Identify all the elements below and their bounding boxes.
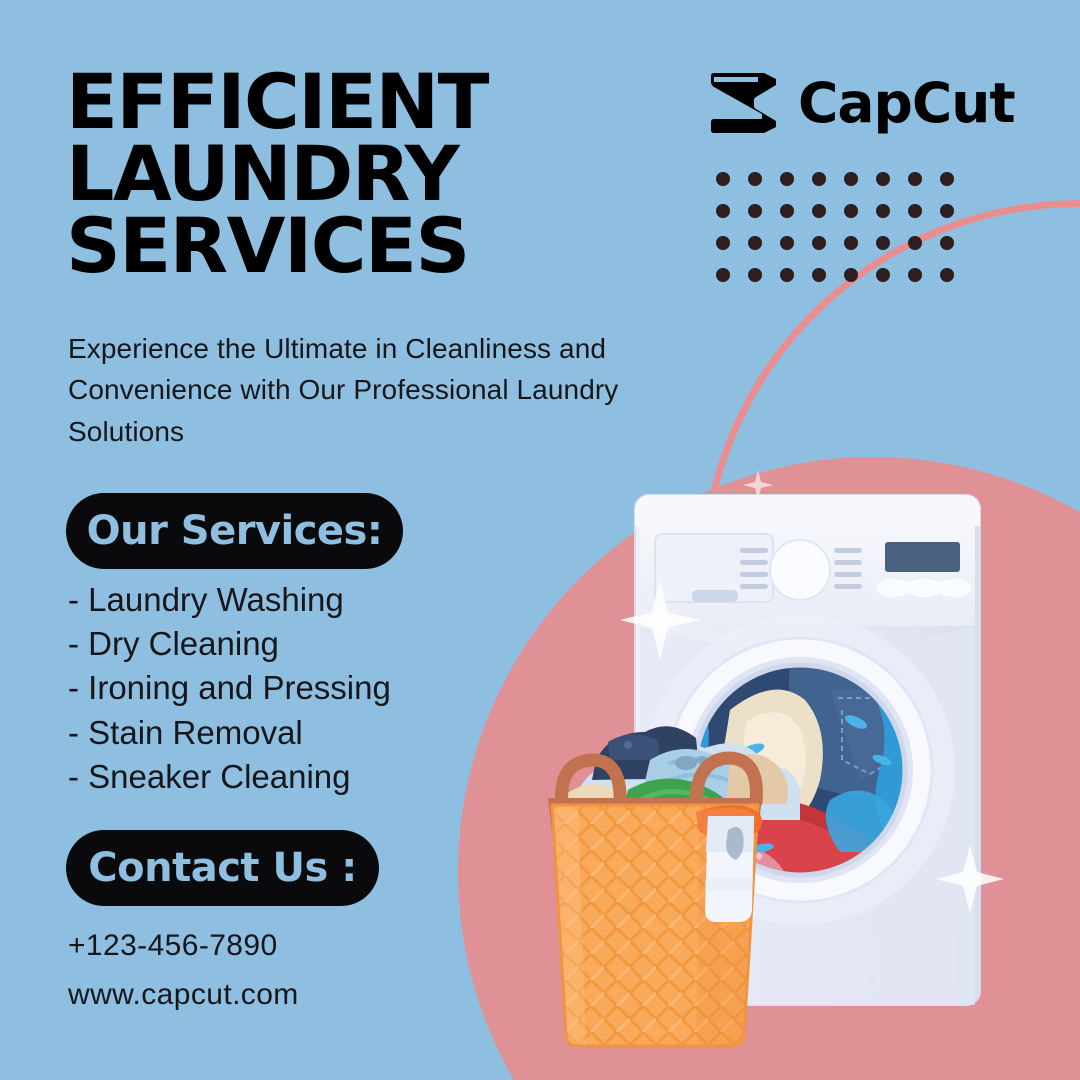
page-title: EFFICIENT LAUNDRY SERVICES [66, 66, 626, 283]
list-item: - Dry Cleaning [68, 622, 391, 666]
capcut-bowtie-icon [706, 72, 780, 134]
our-services-label: Our Services: [87, 508, 383, 554]
our-services-badge: Our Services: [66, 493, 403, 569]
list-item: - Stain Removal [68, 711, 391, 755]
contact-details: +123-456-7890 www.capcut.com [68, 922, 299, 1019]
list-item: - Laundry Washing [68, 578, 391, 622]
headline-line-1: EFFICIENT [66, 66, 626, 138]
headline-line-2: LAUNDRY [66, 138, 626, 210]
phone-number[interactable]: +123-456-7890 [68, 922, 299, 971]
laundry-illustration [500, 460, 1060, 1060]
contact-us-label: Contact Us : [88, 845, 356, 891]
poster-canvas: EFFICIENT LAUNDRY SERVICES Experience th… [0, 0, 1080, 1080]
list-item: - Ironing and Pressing [68, 666, 391, 710]
services-list: - Laundry Washing - Dry Cleaning - Ironi… [68, 578, 391, 799]
subtitle-text: Experience the Ultimate in Cleanliness a… [68, 328, 728, 452]
website-url[interactable]: www.capcut.com [68, 971, 299, 1020]
headline-line-3: SERVICES [66, 210, 626, 282]
capcut-wordmark: CapCut [798, 76, 1015, 131]
list-item: - Sneaker Cleaning [68, 755, 391, 799]
dot-grid-decoration [716, 172, 972, 300]
contact-us-badge: Contact Us : [66, 830, 379, 906]
capcut-logo: CapCut [706, 72, 1015, 134]
